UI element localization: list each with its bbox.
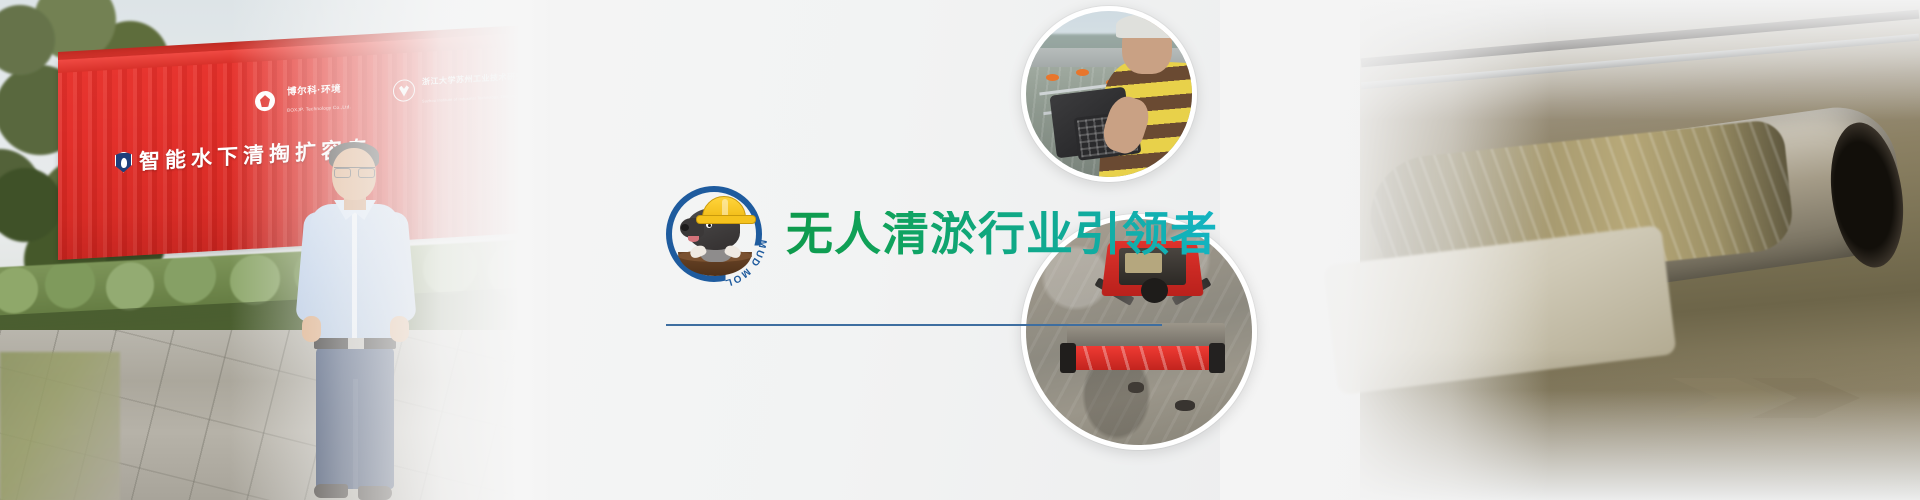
auger-end-cap-right	[1209, 343, 1225, 372]
hero-banner: 博尔科·环境 BOXJP. Technology Co.,Ltd. 浙江大学苏州…	[0, 0, 1920, 500]
brand-row: MUD MOLE 无人清淤行业引领者	[660, 180, 1218, 288]
mud-mole-logo: MUD MOLE	[660, 180, 768, 288]
headline-text: 无人清淤行业引领者	[786, 211, 1218, 258]
center-content: MUD MOLE 无人清淤行业引领者	[660, 0, 1180, 500]
mole-mouth	[688, 236, 699, 242]
mole-nose	[681, 224, 689, 231]
mole-mascot-icon	[680, 196, 748, 270]
left-photo: 博尔科·环境 BOXJP. Technology Co.,Ltd. 浙江大学苏州…	[0, 0, 560, 500]
left-photo-fade	[230, 0, 560, 500]
hard-hat-icon	[702, 196, 746, 222]
right-fade-left	[1220, 0, 1550, 500]
grass-verge	[0, 352, 120, 500]
right-artwork	[1220, 0, 1920, 500]
divider-line	[666, 324, 1162, 326]
shield-icon	[115, 151, 132, 173]
